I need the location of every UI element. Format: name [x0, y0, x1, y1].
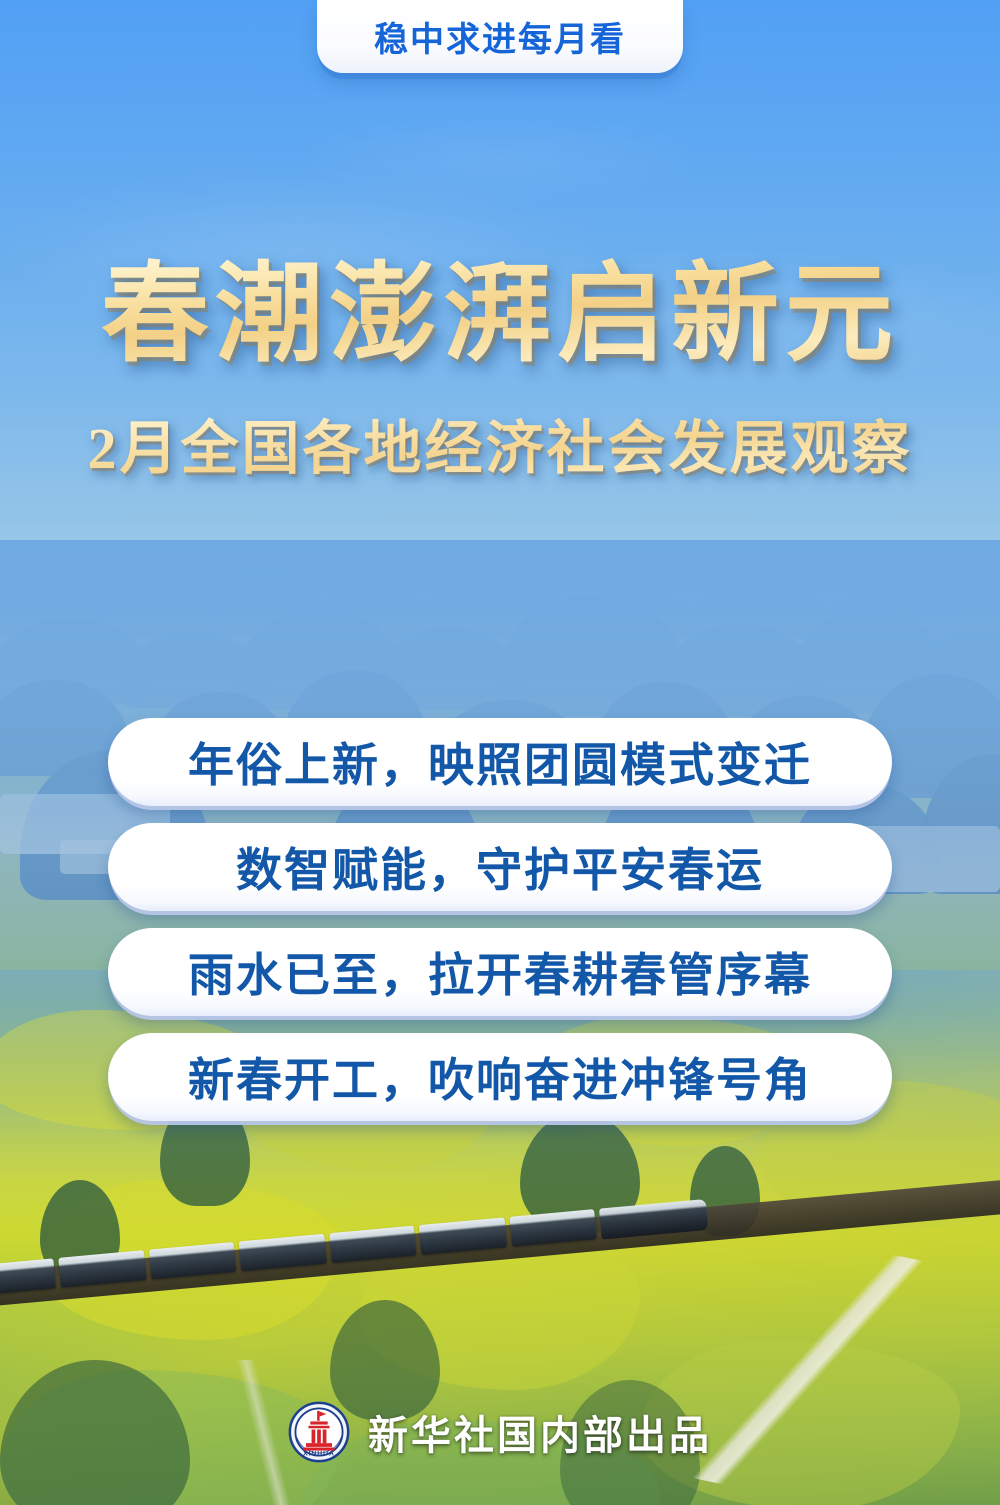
- headline-card-label: 雨水已至，拉开春耕春管序幕: [188, 939, 812, 1005]
- headline-card-3[interactable]: 雨水已至，拉开春耕春管序幕: [108, 928, 892, 1016]
- headline-card-label: 新春开工，吹响奋进冲锋号角: [188, 1044, 812, 1110]
- headline-card-list: 年俗上新，映照团圆模式变迁 数智赋能，守护平安春运 雨水已至，拉开春耕春管序幕 …: [0, 718, 1000, 1121]
- footer-label: 新华社国内部出品: [368, 1403, 712, 1461]
- headline-card-4[interactable]: 新春开工，吹响奋进冲锋号角: [108, 1033, 892, 1121]
- top-banner: 稳中求进每月看: [317, 0, 683, 73]
- banner-label: 稳中求进每月看: [374, 12, 626, 61]
- footer: XINHUA 新华社国内部出品: [0, 1401, 1000, 1463]
- headline-card-label: 年俗上新，映照团圆模式变迁: [188, 729, 812, 795]
- banner-chip[interactable]: 稳中求进每月看: [317, 0, 683, 73]
- title-block: 春潮澎湃启新元 2月全国各地经济社会发展观察: [0, 252, 1000, 485]
- xinhua-logo-icon: XINHUA: [288, 1401, 350, 1463]
- page-title: 春潮澎湃启新元: [0, 252, 1000, 379]
- headline-card-1[interactable]: 年俗上新，映照团圆模式变迁: [108, 718, 892, 806]
- headline-card-label: 数智赋能，守护平安春运: [236, 834, 764, 900]
- xinhua-logo-caption: XINHUA: [303, 1451, 335, 1458]
- poster-root: 稳中求进每月看 春潮澎湃启新元 2月全国各地经济社会发展观察 年俗上新，映照团圆…: [0, 0, 1000, 1505]
- headline-card-2[interactable]: 数智赋能，守护平安春运: [108, 823, 892, 911]
- page-subtitle: 2月全国各地经济社会发展观察: [0, 401, 1000, 485]
